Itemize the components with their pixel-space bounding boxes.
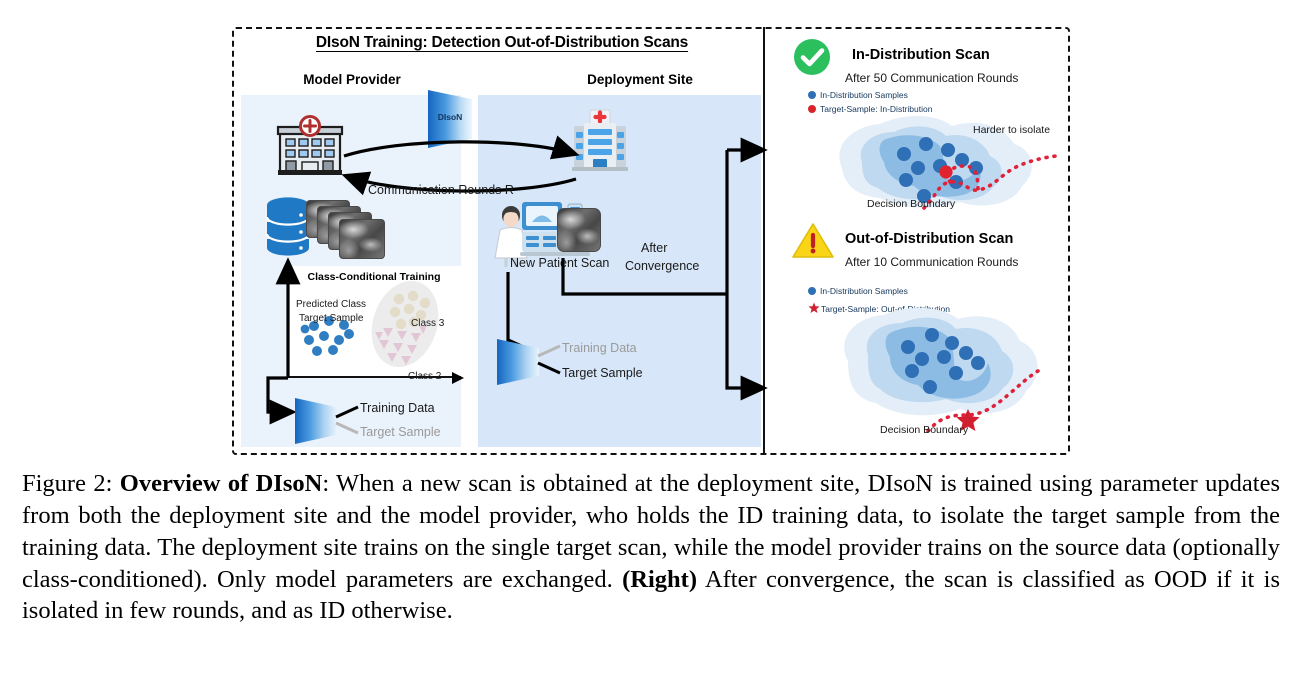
- dison-model-label: DIsoN: [428, 112, 472, 122]
- new-patient-scan-image: [557, 208, 601, 252]
- in-distribution-subtitle: After 50 Communication Rounds: [845, 71, 1018, 85]
- ood-legend-item-0: In-Distribution Samples: [808, 286, 908, 296]
- harder-to-isolate-annotation: Harder to isolate: [973, 124, 1050, 136]
- legend-marker-circle-blue: [808, 91, 816, 99]
- figure-caption: Figure 2: Overview of DIsoN: When a new …: [22, 468, 1280, 627]
- caption-bold-title: Overview of DIsoN: [120, 470, 323, 497]
- out-of-distribution-subtitle: After 10 Communication Rounds: [845, 255, 1018, 269]
- out-of-distribution-title: Out-of-Distribution Scan: [845, 231, 1013, 247]
- legend-marker-star-red: [808, 302, 818, 314]
- deployment-target-sample-label: Target Sample: [562, 366, 643, 380]
- figure-title: DIsoN Training: Detection Out-of-Distrib…: [252, 34, 752, 52]
- green-check-circle-icon: [793, 38, 831, 76]
- class-axis-arrowhead: [452, 370, 470, 386]
- provider-target-sample-output-label: Target Sample: [360, 425, 441, 439]
- caption-prefix: Figure 2:: [22, 470, 120, 497]
- id-decision-boundary-label: Decision Boundary: [867, 198, 955, 210]
- in-distribution-title: In-Distribution Scan: [852, 47, 990, 63]
- deployment-training-data-label: Training Data: [562, 341, 637, 355]
- legend-marker-circle-blue: [808, 287, 816, 295]
- database-icon: [265, 196, 311, 256]
- caption-bold-right: (Right): [622, 566, 697, 593]
- out-of-distribution-scatter-plot: [828, 305, 1078, 440]
- class2-label: Class 2: [408, 371, 441, 382]
- ood-decision-boundary-label: Decision Boundary: [880, 424, 968, 436]
- id-legend-item-0: In-Distribution Samples: [808, 90, 908, 100]
- after-convergence-line1: After: [641, 241, 667, 255]
- legend-marker-circle-red: [808, 105, 816, 113]
- deployment-site-label: Deployment Site: [540, 72, 740, 87]
- yellow-warning-triangle-icon: [793, 222, 835, 260]
- model-provider-label: Model Provider: [252, 72, 452, 87]
- communication-rounds-label: Communication Rounds R: [368, 183, 514, 197]
- provider-training-data-label: Training Data: [360, 401, 435, 415]
- class3-label: Class 3: [411, 318, 444, 329]
- after-convergence-line2: Convergence: [625, 259, 699, 273]
